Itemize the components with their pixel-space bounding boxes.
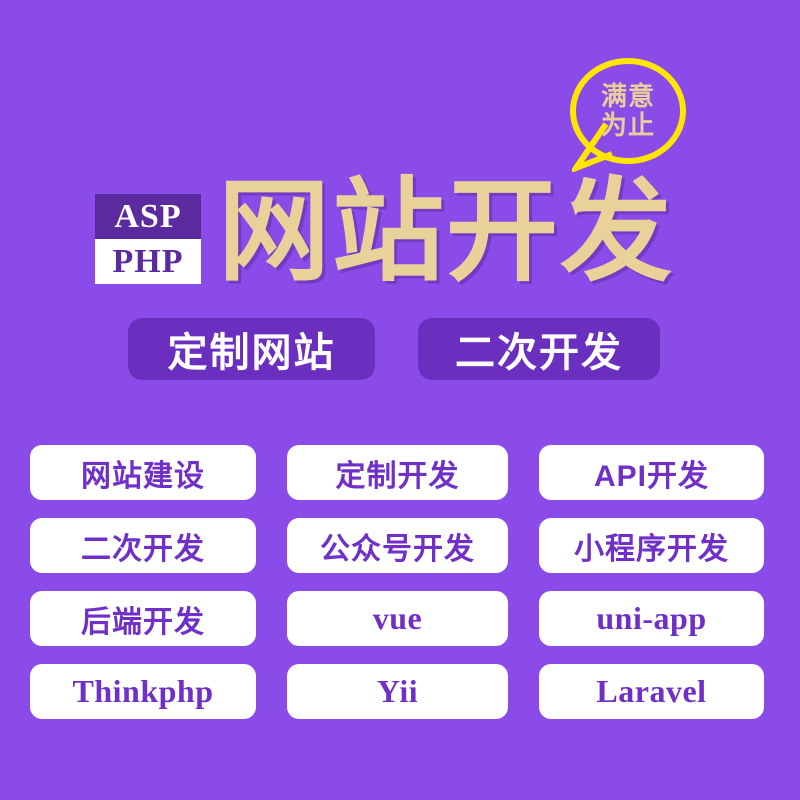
service-tag: Yii <box>287 664 508 719</box>
service-tag: 后端开发 <box>30 591 256 646</box>
service-tag: 公众号开发 <box>287 518 508 573</box>
service-tag: uni-app <box>539 591 764 646</box>
bubble-line-2: 为止 <box>601 112 655 139</box>
service-tag: Thinkphp <box>30 664 256 719</box>
subtitle-pill-custom-website: 定制网站 <box>128 318 375 380</box>
bubble-line-1: 满意 <box>601 83 655 110</box>
php-badge: PHP <box>95 239 201 284</box>
promo-banner: 满意 为止 ASP PHP 网站开发 定制网站 二次开发 网站建设定制开发API… <box>0 0 800 800</box>
subtitle-pill-row: 定制网站 二次开发 <box>128 318 660 380</box>
service-tag: Laravel <box>539 664 764 719</box>
service-tag: 小程序开发 <box>539 518 764 573</box>
service-tag: 网站建设 <box>30 445 256 500</box>
service-tag: vue <box>287 591 508 646</box>
service-tag: 二次开发 <box>30 518 256 573</box>
satisfaction-speech-bubble: 满意 为止 <box>570 58 696 186</box>
page-title: 网站开发 <box>218 176 674 288</box>
language-badge-group: ASP PHP <box>95 194 201 284</box>
speech-bubble-text: 满意 为止 <box>570 58 686 164</box>
asp-badge: ASP <box>95 194 201 239</box>
service-tag-grid: 网站建设定制开发API开发二次开发公众号开发小程序开发后端开发vueuni-ap… <box>30 445 770 719</box>
service-tag: API开发 <box>539 445 764 500</box>
subtitle-pill-secondary-development: 二次开发 <box>418 318 660 380</box>
service-tag: 定制开发 <box>287 445 508 500</box>
